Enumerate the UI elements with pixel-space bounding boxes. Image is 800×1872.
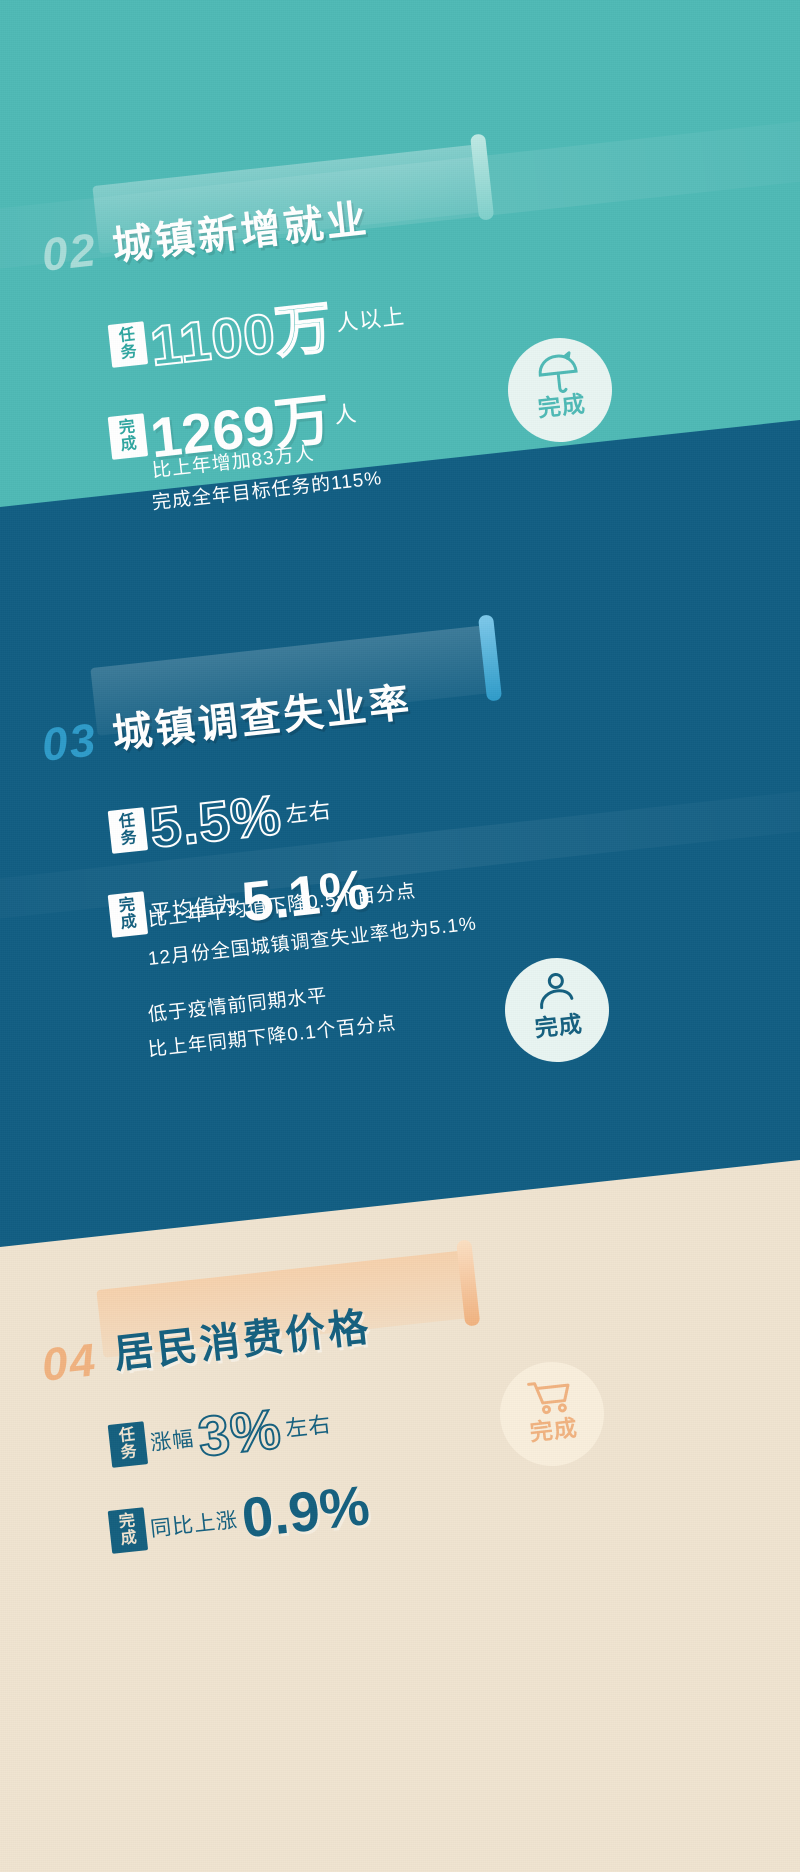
- task-value-02: 1100万: [147, 295, 335, 377]
- section-index-03: 03: [39, 712, 100, 772]
- seal-label-03: 完成: [505, 1001, 612, 1046]
- task-badge-03: 任 务: [108, 807, 148, 854]
- task-suffix-04: 左右: [284, 1412, 332, 1442]
- task-value-04: 3%: [195, 1397, 284, 1469]
- infographic-canvas: 02 城镇新增就业 任 务 1100万 人以上 完 成 1269万 人 比上年增…: [0, 0, 800, 1872]
- done-badge-03: 完 成: [108, 891, 148, 938]
- seal-label-02: 完成: [508, 381, 615, 426]
- seal-label-04: 完成: [500, 1405, 607, 1450]
- done-badge-04: 完 成: [108, 1507, 148, 1554]
- task-badge-04: 任 务: [108, 1421, 148, 1468]
- done-suffix-02: 人: [333, 401, 359, 428]
- done-prefix-04: 同比上涨: [149, 1509, 239, 1541]
- section-index-02: 02: [39, 222, 100, 282]
- done-value-04: 0.9%: [239, 1473, 373, 1549]
- done-badge-02: 完 成: [108, 413, 148, 460]
- task-prefix-04: 涨幅: [149, 1427, 195, 1455]
- section-index-04: 04: [39, 1332, 100, 1392]
- task-badge-02: 任 务: [108, 321, 148, 368]
- task-suffix-03: 左右: [284, 798, 332, 828]
- task-value-03: 5.5%: [147, 783, 285, 860]
- task-suffix-02: 人以上: [335, 304, 406, 336]
